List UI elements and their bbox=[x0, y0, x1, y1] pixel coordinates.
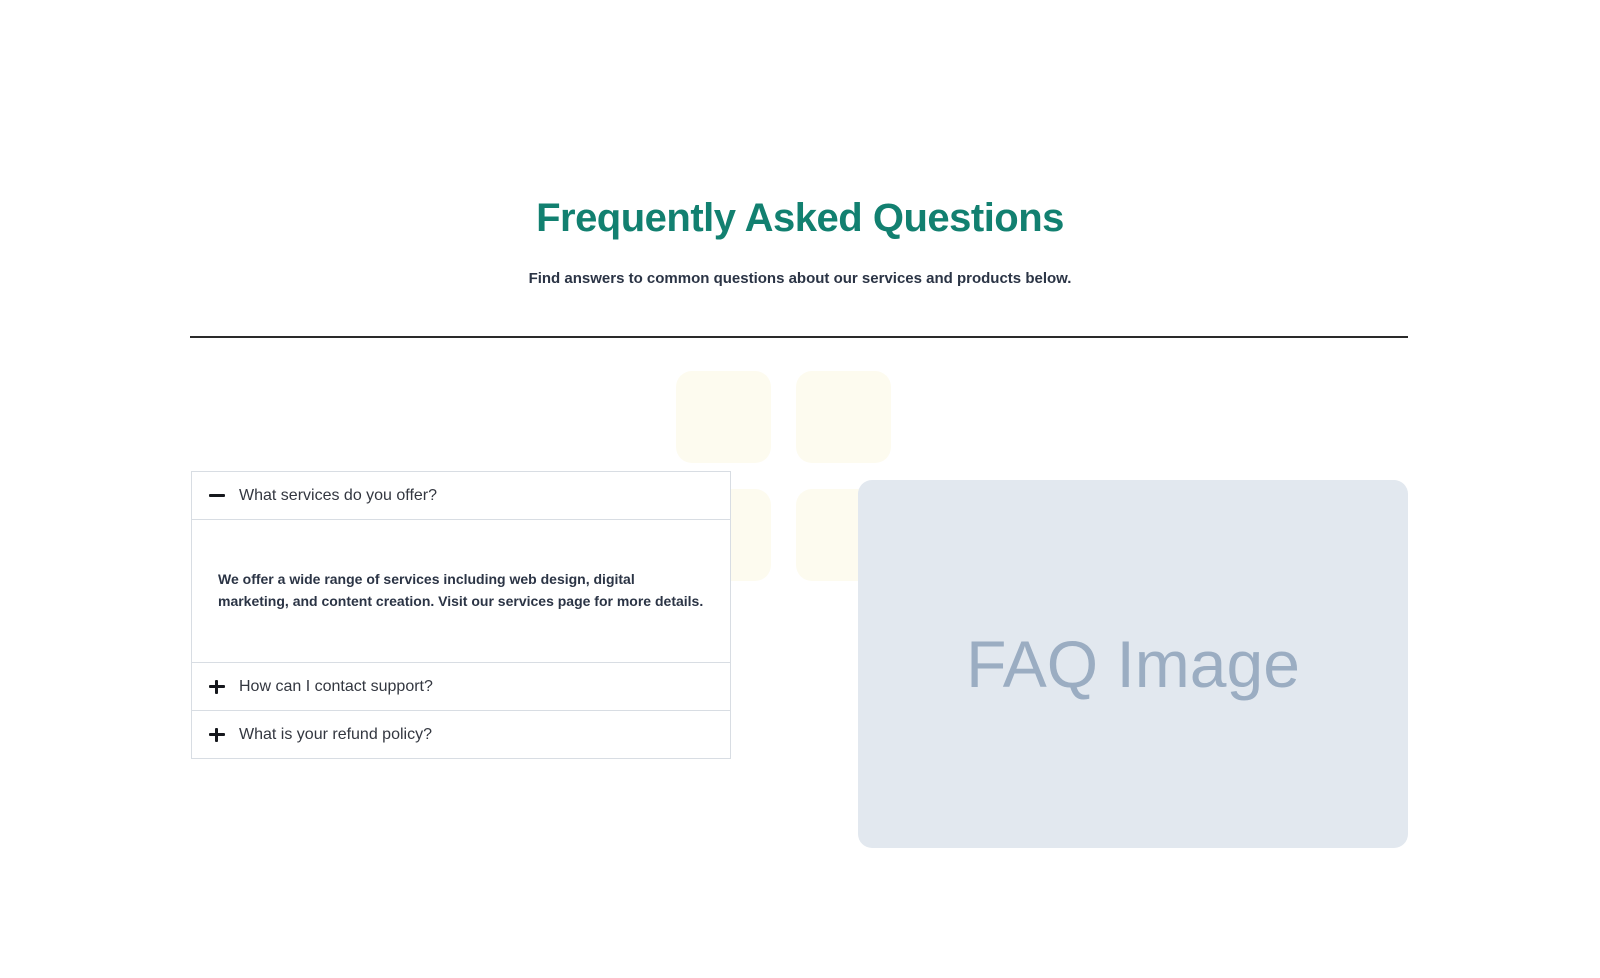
accordion-panel-services: We offer a wide range of services includ… bbox=[192, 519, 730, 662]
accordion-item-services: What services do you offer? We offer a w… bbox=[192, 472, 730, 662]
minus-icon bbox=[208, 487, 226, 505]
accordion-header-services[interactable]: What services do you offer? bbox=[192, 472, 730, 519]
accordion-header-support[interactable]: How can I contact support? bbox=[192, 663, 730, 710]
accordion-question-label: What is your refund policy? bbox=[239, 725, 432, 745]
accordion-item-support: How can I contact support? bbox=[192, 662, 730, 710]
page-title: Frequently Asked Questions bbox=[0, 194, 1600, 242]
accordion-question-label: What services do you offer? bbox=[239, 486, 437, 506]
page-subtitle: Find answers to common questions about o… bbox=[0, 268, 1600, 290]
header-divider bbox=[190, 336, 1408, 338]
accordion-item-refund: What is your refund policy? bbox=[192, 710, 730, 758]
faq-page: Frequently Asked Questions Find answers … bbox=[0, 0, 1600, 978]
plus-icon bbox=[208, 726, 226, 744]
faq-accordion: What services do you offer? We offer a w… bbox=[191, 471, 731, 759]
plus-icon bbox=[208, 678, 226, 696]
decorative-square-1 bbox=[676, 371, 771, 463]
faq-image-placeholder: FAQ Image bbox=[858, 480, 1408, 848]
decorative-square-2 bbox=[796, 371, 891, 463]
accordion-header-refund[interactable]: What is your refund policy? bbox=[192, 711, 730, 758]
accordion-question-label: How can I contact support? bbox=[239, 677, 433, 697]
faq-image-label: FAQ Image bbox=[966, 629, 1300, 699]
accordion-answer-text: We offer a wide range of services includ… bbox=[218, 568, 704, 612]
